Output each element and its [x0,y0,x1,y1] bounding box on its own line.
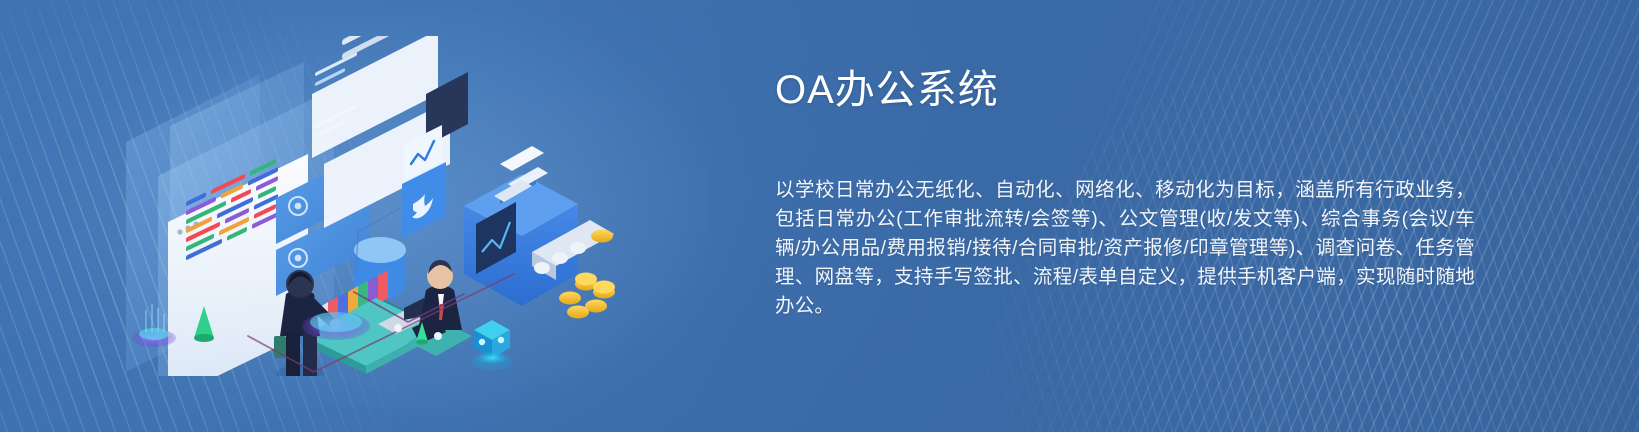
robot [472,320,512,370]
page-title: OA办公系统 [775,66,1485,114]
glow-platform [302,312,370,340]
isometric-office-illustration [108,36,668,376]
oa-system-banner: OA办公系统 以学校日常办公无纸化、自动化、网络化、移动化为目标，涵盖所有行政业… [0,0,1639,432]
page-description: 以学校日常办公无纸化、自动化、网络化、移动化为目标，涵盖所有行政业务，包括日常办… [775,176,1475,321]
banner-copy: OA办公系统 以学校日常办公无纸化、自动化、网络化、移动化为目标，涵盖所有行政业… [775,66,1485,321]
